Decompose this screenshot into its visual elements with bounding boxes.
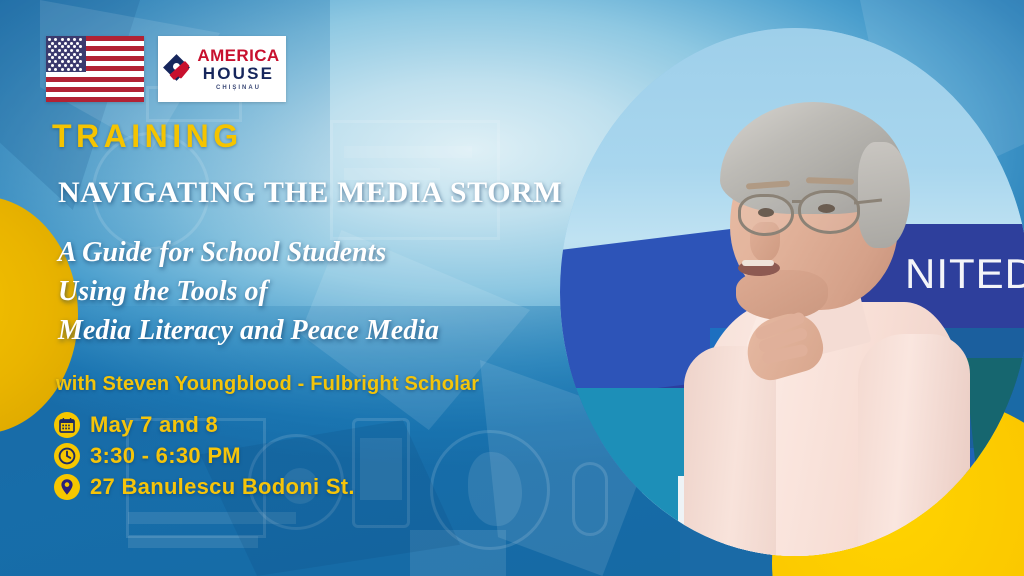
- flag-star: [73, 60, 76, 63]
- flag-star: [76, 49, 79, 52]
- flag-star: [58, 49, 61, 52]
- flag-star: [76, 64, 79, 67]
- flag-star: [54, 68, 57, 71]
- poster-text-content: TRAINING NAVIGATING THE MEDIA STORM A Gu…: [52, 120, 592, 505]
- event-subtitle: A Guide for School Students Using the To…: [52, 234, 592, 351]
- america-house-wordmark: AMERICA HOUSE CHIȘINĂU: [197, 47, 279, 91]
- flag-star: [48, 38, 51, 41]
- flag-star: [70, 42, 73, 45]
- speaker-teeth: [742, 260, 774, 266]
- flag-star: [79, 68, 82, 71]
- flag-star: [67, 45, 70, 48]
- speaker-photo-container: NITED: [552, 20, 1024, 576]
- subtitle-line-1: A Guide for School Students: [58, 234, 592, 273]
- flag-star: [73, 38, 76, 41]
- flag-star: [67, 53, 70, 56]
- flag-star: [54, 38, 57, 41]
- flag-star: [70, 49, 73, 52]
- flag-star: [48, 45, 51, 48]
- flag-star: [79, 60, 82, 63]
- logo-line-america: AMERICA: [197, 47, 279, 64]
- poster-canvas: NITED: [0, 0, 1024, 576]
- detail-text-location: 27 Banulescu Bodoni St.: [90, 474, 355, 500]
- flag-star: [79, 53, 82, 56]
- flag-star: [48, 60, 51, 63]
- event-type-kicker: TRAINING: [52, 120, 592, 152]
- speaker-eyeglass-lens-right: [798, 190, 860, 234]
- flag-star: [73, 53, 76, 56]
- presenter-line: with Steven Youngblood - Fulbright Schol…: [52, 373, 592, 396]
- speaker-photo-circle-frame: NITED: [560, 28, 1024, 556]
- flag-star: [51, 42, 54, 45]
- america-house-logo: AMERICA HOUSE CHIȘINĂU: [158, 36, 286, 102]
- flag-star: [64, 64, 67, 67]
- clock-icon: [54, 443, 80, 469]
- flag-star: [61, 60, 64, 63]
- flag-star: [51, 64, 54, 67]
- flag-star: [54, 60, 57, 63]
- speaker-chin: [736, 270, 828, 320]
- flag-star: [58, 56, 61, 59]
- us-flag: [46, 36, 144, 102]
- detail-text-date: May 7 and 8: [90, 412, 218, 438]
- flag-star: [58, 64, 61, 67]
- flag-star: [64, 49, 67, 52]
- flag-star: [76, 56, 79, 59]
- flag-star: [64, 56, 67, 59]
- event-details-list: May 7 and 8 3:30 - 6:30 PM: [52, 412, 592, 500]
- america-house-checkmark-icon: [164, 55, 192, 83]
- flag-star: [73, 68, 76, 71]
- flag-stripe: [46, 97, 144, 102]
- flag-star: [76, 42, 79, 45]
- flag-star: [64, 42, 67, 45]
- flag-star: [54, 53, 57, 56]
- flag-star: [67, 68, 70, 71]
- flag-star: [79, 45, 82, 48]
- detail-row-location: 27 Banulescu Bodoni St.: [54, 474, 592, 500]
- speaker-eyeglass-bridge: [792, 200, 802, 203]
- flag-star: [48, 68, 51, 71]
- flag-star: [73, 45, 76, 48]
- logo-row: AMERICA HOUSE CHIȘINĂU: [46, 36, 286, 102]
- flag-star: [79, 38, 82, 41]
- flag-star: [51, 49, 54, 52]
- detail-row-date: May 7 and 8: [54, 412, 592, 438]
- flag-star: [67, 60, 70, 63]
- flag-star: [61, 45, 64, 48]
- flag-star: [54, 45, 57, 48]
- flag-star: [51, 56, 54, 59]
- flag-canton: [46, 36, 86, 72]
- detail-row-time: 3:30 - 6:30 PM: [54, 443, 592, 469]
- flag-star: [61, 38, 64, 41]
- flag-star: [67, 38, 70, 41]
- detail-text-time: 3:30 - 6:30 PM: [90, 443, 241, 469]
- event-title: NAVIGATING THE MEDIA STORM: [52, 178, 592, 208]
- speaker-hair-side: [858, 142, 910, 248]
- flag-star: [70, 56, 73, 59]
- speaker-sleeve-back: [858, 334, 970, 556]
- logo-line-house: HOUSE: [203, 65, 274, 82]
- subtitle-line-2: Using the Tools of: [58, 273, 592, 312]
- calendar-icon: [54, 412, 80, 438]
- logo-line-city: CHIȘINĂU: [216, 85, 261, 91]
- flag-star: [61, 68, 64, 71]
- flag-star: [58, 42, 61, 45]
- subtitle-line-3: Media Literacy and Peace Media: [58, 312, 592, 351]
- flag-star: [70, 64, 73, 67]
- speaker-figure: [672, 84, 1002, 556]
- flag-star: [48, 53, 51, 56]
- flag-star: [61, 53, 64, 56]
- location-pin-icon: [54, 474, 80, 500]
